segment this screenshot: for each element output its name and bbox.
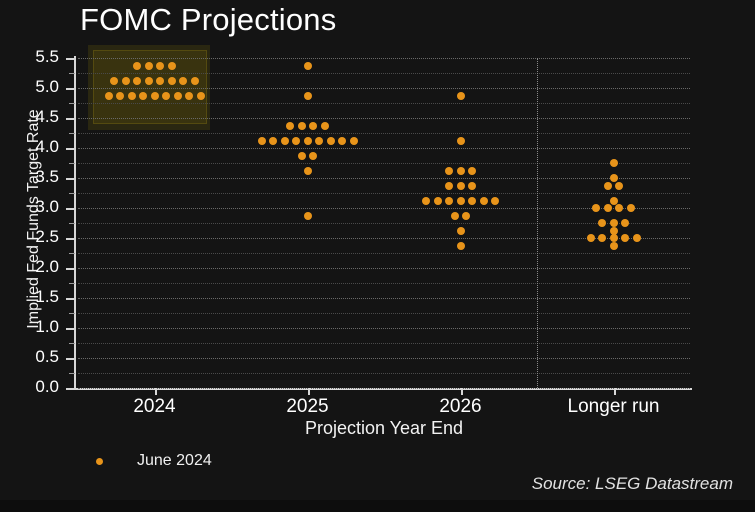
data-point [598,219,606,227]
data-point [338,137,346,145]
gridline [78,163,690,164]
y-axis-tick-label: 1.0 [0,317,59,337]
data-point [468,197,476,205]
data-point [592,204,600,212]
gridline [78,148,690,149]
x-axis-label: Projection Year End [78,418,690,439]
y-axis-tick-label: 5.0 [0,77,59,97]
data-point [304,62,312,70]
data-point [350,137,358,145]
data-point [587,234,595,242]
data-point [621,219,629,227]
data-point [457,167,465,175]
y-axis-tick-label: 1.5 [0,287,59,307]
y-axis-tick-label: 2.0 [0,257,59,277]
y-axis-tick-label: 3.0 [0,197,59,217]
data-point [457,137,465,145]
data-point [457,197,465,205]
gridline [78,298,690,299]
data-point [116,92,124,100]
y-axis-tick [69,253,75,254]
y-axis-tick [69,343,75,344]
gridline [78,118,690,119]
data-point [110,77,118,85]
y-axis-tick [66,88,75,90]
gridline [78,58,690,59]
data-point [468,182,476,190]
gridline [78,358,690,359]
plot-area [78,58,690,388]
data-point [633,234,641,242]
y-axis-tick [66,388,75,390]
data-point [627,204,635,212]
data-point [434,197,442,205]
data-point [615,182,623,190]
y-axis-tick [66,328,75,330]
y-axis-tick [66,118,75,120]
data-point [327,137,335,145]
data-point [298,122,306,130]
gridline [78,193,690,194]
data-point [133,77,141,85]
gridline [78,268,690,269]
x-axis-tick [155,388,157,395]
data-point [185,92,193,100]
gridline [78,73,690,74]
category-separator [537,58,538,388]
y-axis-tick-label: 4.0 [0,137,59,157]
y-axis-tick [66,148,75,150]
data-point [491,197,499,205]
data-point [304,167,312,175]
y-axis-tick [69,133,75,134]
y-axis-tick [69,73,75,74]
y-axis-tick [66,178,75,180]
y-axis-tick [66,358,75,360]
data-point [168,62,176,70]
y-axis-tick-label: 5.5 [0,47,59,67]
y-axis-tick [69,163,75,164]
y-axis-tick-label: 4.5 [0,107,59,127]
gridline [78,373,690,374]
data-point [462,212,470,220]
data-point [269,137,277,145]
y-axis-tick [69,223,75,224]
data-point [128,92,136,100]
y-axis-tick-label: 0.5 [0,347,59,367]
y-axis-tick [66,298,75,300]
x-axis-tick [461,388,463,395]
data-point [174,92,182,100]
x-axis-tick-label-2025: 2025 [286,396,328,418]
gridline [78,388,690,389]
data-point [197,92,205,100]
y-axis-tick [69,193,75,194]
data-point [457,242,465,250]
data-point [304,137,312,145]
gridline [78,328,690,329]
data-point [292,137,300,145]
data-point [621,234,629,242]
data-point [604,204,612,212]
data-point [457,92,465,100]
data-point [304,92,312,100]
data-point [610,174,618,182]
data-point [309,122,317,130]
data-point [457,227,465,235]
legend-marker-icon [96,458,103,465]
data-point [133,62,141,70]
data-point [445,167,453,175]
data-point [298,152,306,160]
y-axis-tick [66,208,75,210]
data-point [304,212,312,220]
gridline [78,253,690,254]
data-point [422,197,430,205]
y-axis-tick [69,313,75,314]
y-axis-tick-label: 2.5 [0,227,59,247]
gridline [78,313,690,314]
x-axis-tick [308,388,310,395]
x-axis-tick-label-2024: 2024 [133,396,175,418]
gridline [78,103,690,104]
data-point [610,159,618,167]
x-axis-tick-label-longer-run: Longer run [568,396,660,418]
gridline [78,343,690,344]
data-point [122,77,130,85]
chart-root: FOMC Projections Implied Fed Funds Targe… [0,0,755,512]
data-point [145,62,153,70]
data-point [281,137,289,145]
data-point [315,137,323,145]
chart-legend: June 2024 [96,452,212,470]
data-point [468,167,476,175]
data-point [598,234,606,242]
data-point [145,77,153,85]
data-point [191,77,199,85]
data-point [151,92,159,100]
chart-title: FOMC Projections [80,2,336,38]
data-point [445,182,453,190]
y-axis-tick [69,103,75,104]
data-point [156,62,164,70]
source-attribution: Source: LSEG Datastream [532,474,733,494]
y-axis-tick-label: 3.5 [0,167,59,187]
data-point [457,182,465,190]
data-point [168,77,176,85]
data-point [610,242,618,250]
gridline [78,88,690,89]
data-point [604,182,612,190]
data-point [258,137,266,145]
data-point [105,92,113,100]
y-axis-tick [66,268,75,270]
data-point [139,92,147,100]
data-point [162,92,170,100]
gridline [78,283,690,284]
legend-label: June 2024 [137,452,212,470]
y-axis-tick-label: 0.0 [0,377,59,397]
data-point [321,122,329,130]
y-axis-tick [66,238,75,240]
data-point [309,152,317,160]
y-axis-tick [69,283,75,284]
y-axis-tick [69,373,75,374]
x-axis-tick [614,388,616,395]
bottom-bar [0,500,755,512]
gridline [78,133,690,134]
data-point [445,197,453,205]
data-point [286,122,294,130]
data-point [179,77,187,85]
x-axis-tick-label-2026: 2026 [439,396,481,418]
y-axis-tick [66,58,75,60]
data-point [451,212,459,220]
data-point [610,197,618,205]
data-point [615,204,623,212]
data-point [480,197,488,205]
gridline [78,178,690,179]
data-point [156,77,164,85]
